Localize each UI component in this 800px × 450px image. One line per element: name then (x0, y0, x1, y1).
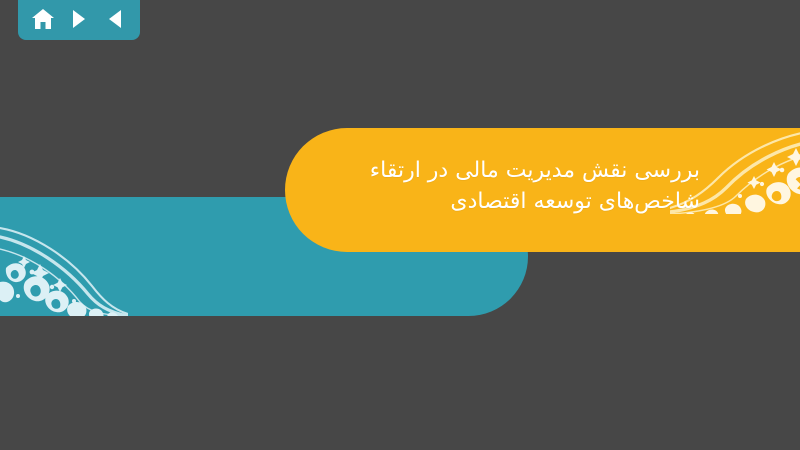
next-triangle-icon (70, 9, 88, 29)
arabesque-ornament-teal (0, 224, 128, 316)
arabesque-ornament-yellow (670, 128, 800, 214)
yellow-title-panel (285, 128, 800, 252)
nav-back-button[interactable] (100, 4, 130, 34)
navigation-bar (18, 0, 140, 40)
slide-stage: بررسی نقش مدیریت مالی در ارتقاء شاخص‌های… (0, 0, 800, 450)
nav-home-button[interactable] (28, 4, 58, 34)
previous-triangle-icon (106, 9, 124, 29)
nav-forward-button[interactable] (64, 4, 94, 34)
home-icon (32, 9, 54, 30)
